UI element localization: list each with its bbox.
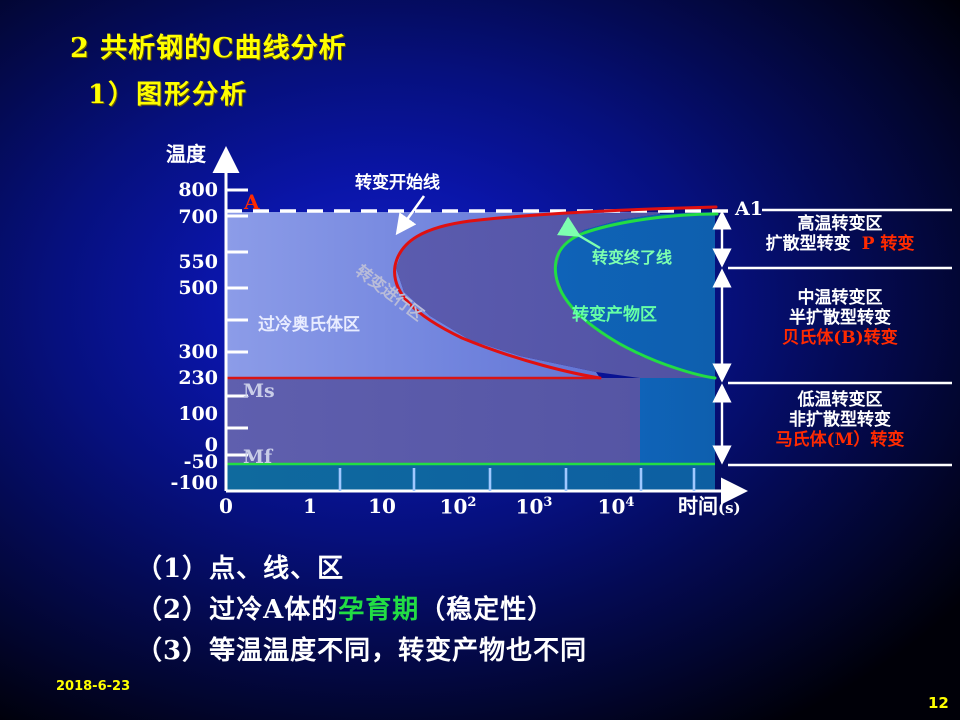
x-axis-label: 时间(s)	[678, 496, 741, 516]
bullet-1-text: （1）点、线、区	[136, 554, 344, 584]
bullet-3: （3）等温温度不同，转变产物也不同	[136, 630, 587, 667]
annotation-product-region: 转变产物区	[572, 300, 657, 325]
bullet-2-highlight: 孕育期	[338, 595, 419, 625]
zone-low-temperature: 低温转变区 非扩散型转变 马氏体(M）转变	[725, 390, 955, 450]
footer-page-number: 12	[928, 694, 949, 712]
x-axis-unit: (s)	[718, 499, 741, 517]
y-tick-230: 230	[148, 369, 218, 388]
annotation-mf-label: Mf	[243, 446, 272, 468]
x-axis-label-text: 时间	[678, 494, 718, 518]
annotation-ms-label: Ms	[243, 380, 275, 402]
bullet-2: （2）过冷A体的孕育期（稳定性）	[136, 589, 554, 626]
footer-date: 2018-6-23	[56, 679, 130, 694]
annotation-supercooled-austenite: 过冷奥氏体区	[258, 310, 360, 335]
zone-medium-temperature: 中温转变区 半扩散型转变 贝氏体(B)转变	[725, 288, 955, 348]
x-tick-100: 102	[428, 496, 488, 517]
page-subtitle: 1）图形分析	[88, 74, 248, 111]
y-tick-100: 100	[148, 405, 218, 424]
y-tick-minus100: -100	[148, 474, 218, 493]
zone3-line2: 非扩散型转变	[725, 410, 955, 430]
x-tick-1000: 103	[504, 496, 564, 517]
transform-start-curve	[395, 207, 716, 378]
transform-end-curve	[555, 214, 717, 378]
annotation-austenite-A: A	[244, 190, 260, 214]
annotation-transform-end: 转变终了线	[592, 244, 672, 268]
zone1-product: P 转变	[862, 234, 915, 254]
y-tick-500: 500	[148, 279, 218, 298]
annotation-transform-progress: 转变进行区	[352, 258, 430, 325]
x-tick-10: 10	[352, 496, 412, 516]
x-tick-marks	[340, 468, 694, 491]
region-supercooled-austenite	[226, 212, 660, 378]
x-tick-0: 0	[196, 496, 256, 516]
bullet-1: （1）点、线、区	[136, 548, 344, 585]
zone2-line1: 中温转变区	[725, 288, 955, 308]
zone2-product: 贝氏体(B)转变	[725, 328, 955, 348]
region-martensite	[226, 378, 640, 464]
region-below-mf	[226, 464, 715, 491]
annotation-transform-start: 转变开始线	[355, 168, 440, 193]
x-tick-1: 1	[280, 496, 340, 516]
bullet-2-prefix: （2）过冷A体的	[136, 595, 338, 625]
zone-high-temperature: 高温转变区 扩散型转变 P 转变	[725, 214, 955, 254]
y-tick-minus50: -50	[148, 453, 218, 472]
zone1-line2: 扩散型转变	[766, 234, 851, 254]
region-product	[556, 212, 715, 378]
slide-root: 2 共析钢的C曲线分析 1）图形分析	[0, 0, 960, 720]
x-tick-10000: 104	[586, 496, 646, 517]
y-tick-marks	[226, 190, 248, 455]
bullet-2-suffix: （稳定性）	[419, 595, 554, 625]
region-product-lower	[640, 378, 715, 464]
y-tick-300: 300	[148, 343, 218, 362]
y-tick-800: 800	[148, 181, 218, 200]
y-axis-label: 温度	[166, 144, 206, 164]
page-title: 2 共析钢的C曲线分析	[70, 26, 347, 65]
zone1-row2: 扩散型转变 P 转变	[725, 234, 955, 254]
y-tick-550: 550	[148, 253, 218, 272]
zone3-product: 马氏体(M）转变	[725, 430, 955, 450]
zone1-line1: 高温转变区	[725, 214, 955, 234]
bullet-3-text: （3）等温温度不同，转变产物也不同	[136, 636, 587, 666]
zone2-line2: 半扩散型转变	[725, 308, 955, 328]
start-line-pointer	[398, 196, 424, 232]
zone3-line1: 低温转变区	[725, 390, 955, 410]
y-tick-700: 700	[148, 208, 218, 227]
